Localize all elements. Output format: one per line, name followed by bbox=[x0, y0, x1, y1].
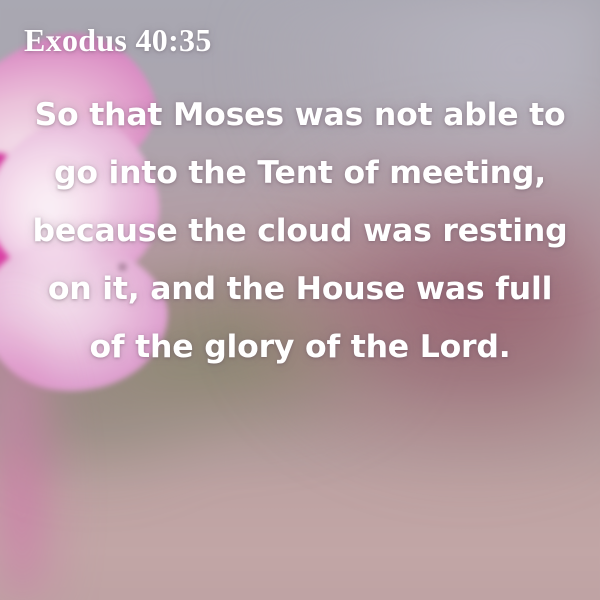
verse-text-block: Exodus 40:35 So that Moses was not able … bbox=[0, 0, 600, 600]
verse-image-card: Exodus 40:35 So that Moses was not able … bbox=[0, 0, 600, 600]
verse-line: of the glory of the Lord. bbox=[30, 318, 570, 376]
verse-reference: Exodus 40:35 bbox=[24, 22, 212, 59]
verse-line: because the cloud was resting bbox=[30, 202, 570, 260]
verse-line: So that Moses was not able to bbox=[30, 86, 570, 144]
verse-line: go into the Tent of meeting, bbox=[30, 144, 570, 202]
verse-line: on it, and the House was full bbox=[30, 260, 570, 318]
verse-body: So that Moses was not able to go into th… bbox=[30, 86, 570, 376]
